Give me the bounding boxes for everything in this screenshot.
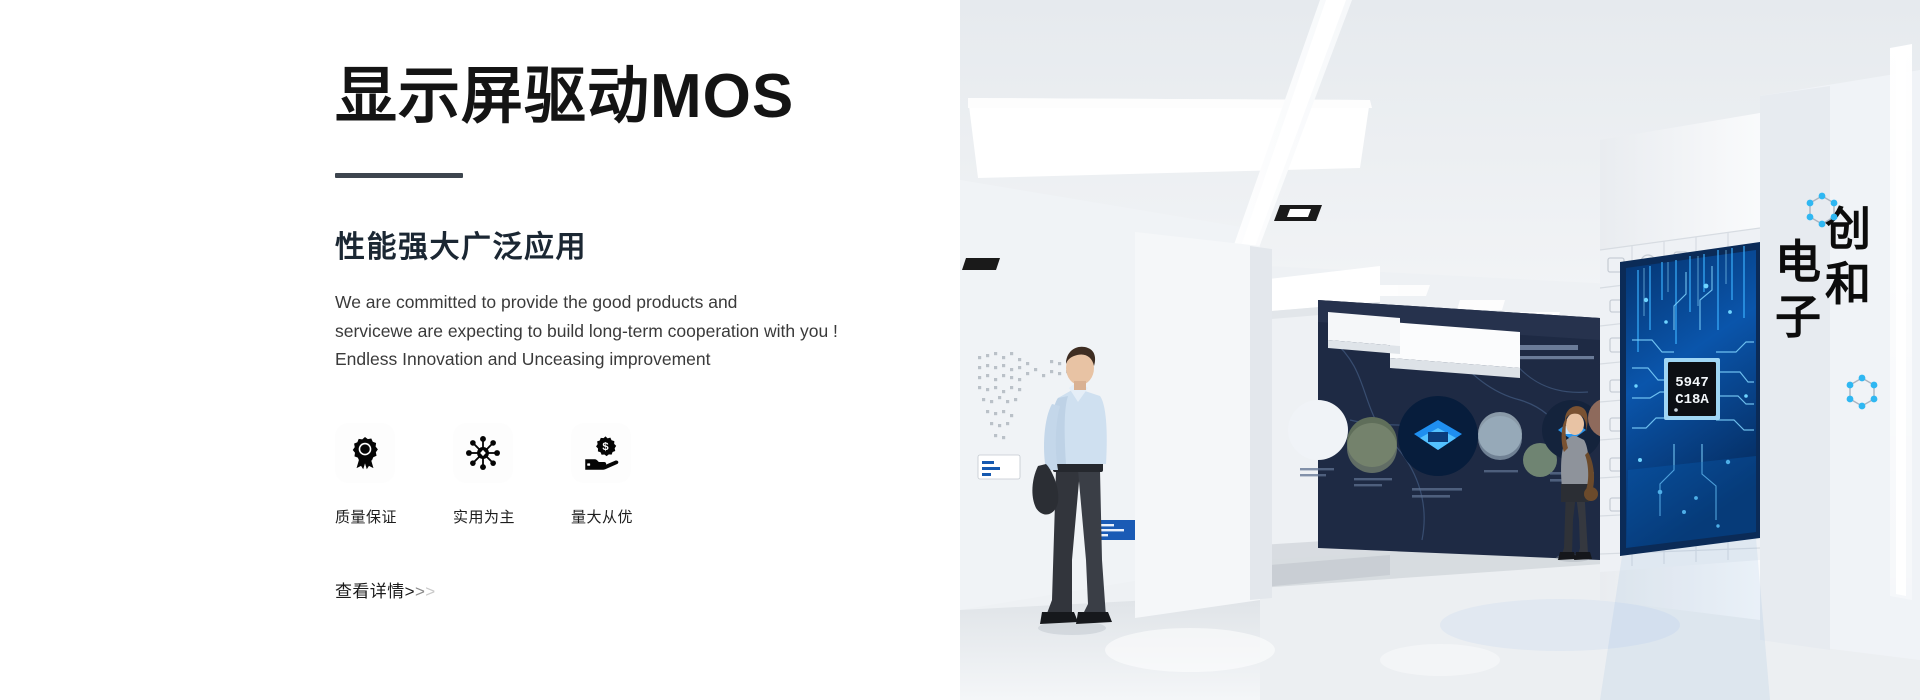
feature-icon-tile: $ (571, 423, 631, 483)
feature-item-practical: 实用为主 (453, 423, 571, 527)
chip-label-line-2: C18A (1675, 392, 1709, 408)
chevron-1-icon: > (405, 582, 415, 602)
wall-sign-char-he: 和 (1825, 258, 1871, 310)
feature-item-bulk-discount: $ 量大从优 (571, 423, 689, 527)
hero-text-panel: 显示屏驱动MOS 性能强大广泛应用 We are committed to pr… (0, 0, 960, 700)
chip-label-line-1: 5947 (1675, 375, 1709, 391)
feature-icon-tile (453, 423, 513, 483)
hero-subtitle: 性能强大广泛应用 (335, 230, 960, 266)
hero-description-line-3: Endless Innovation and Unceasing improve… (335, 345, 960, 373)
led-display-screen: 5947 C18A (1620, 242, 1760, 556)
hero-description-line-1: We are committed to provide the good pro… (335, 288, 960, 316)
showroom-illustration: 5947 C18A 创 和 电 子 (960, 0, 1920, 700)
wall-sign-char-dian: 电 (1775, 236, 1821, 288)
feature-label: 质量保证 (335, 506, 397, 527)
feature-icon-tile (335, 423, 395, 483)
wall-sign-char-zi: 子 (1775, 291, 1821, 343)
wall-sign-char-chuang: 创 (1825, 203, 1871, 255)
feature-list: 质量保证 (335, 423, 960, 527)
view-details-label: 查看详情 (335, 577, 405, 602)
showroom-photo: 5947 C18A 创 和 电 子 (960, 0, 1920, 700)
hero-banner: 显示屏驱动MOS 性能强大广泛应用 We are committed to pr… (0, 0, 1920, 700)
feature-label: 实用为主 (453, 506, 515, 527)
hero-description-line-2: servicewe are expecting to build long-te… (335, 317, 960, 345)
page-title: 显示屏驱动MOS (335, 62, 960, 131)
svg-text:$: $ (602, 442, 609, 454)
feature-label: 量大从优 (571, 506, 633, 527)
chevron-2-icon: > (415, 582, 425, 602)
view-details-link[interactable]: 查看详情>>> (335, 577, 436, 602)
feature-item-quality: 质量保证 (335, 423, 453, 527)
chevron-3-icon: > (425, 582, 435, 602)
hand-money-icon: $ (583, 435, 619, 471)
award-ribbon-icon (347, 435, 383, 471)
hero-description: We are committed to provide the good pro… (335, 288, 960, 373)
title-divider (335, 173, 463, 178)
network-hub-icon (465, 435, 501, 471)
